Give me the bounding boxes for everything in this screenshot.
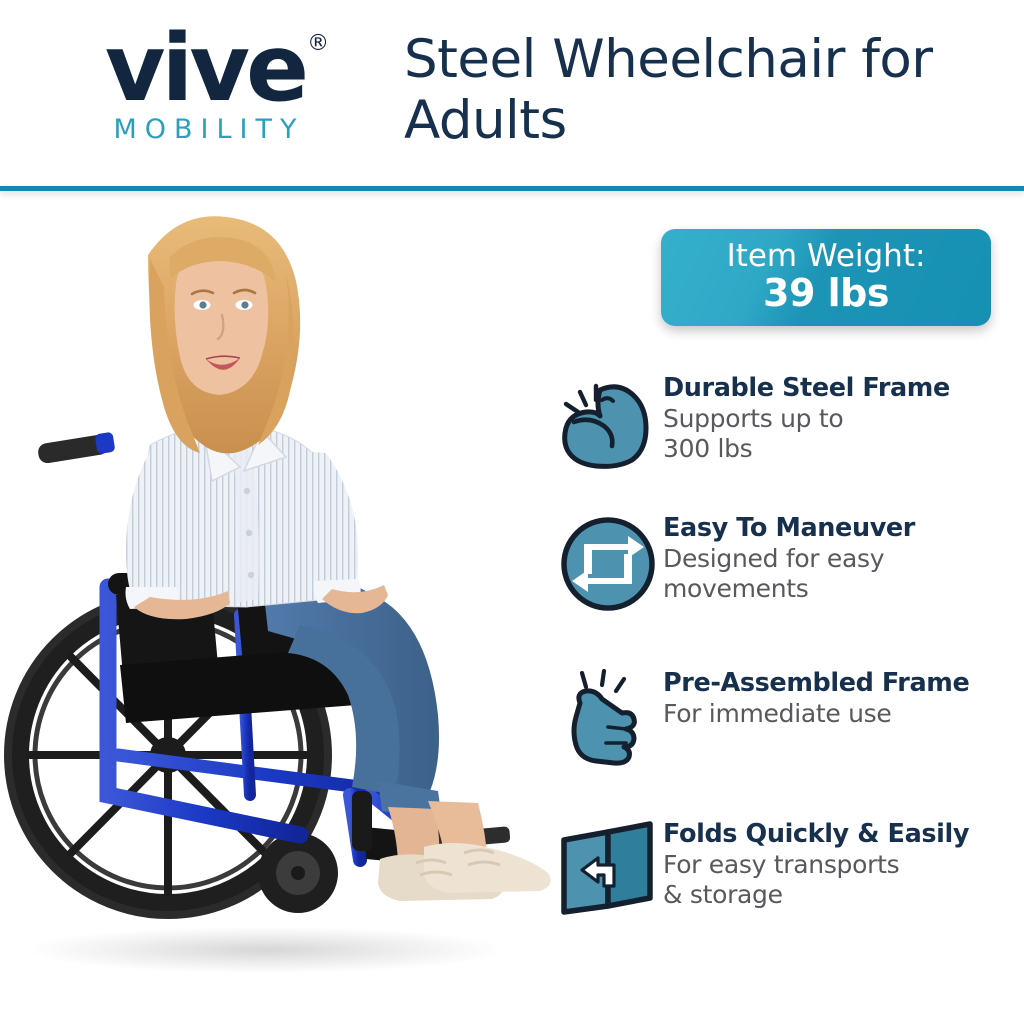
feature-text-block: Durable Steel Frame Supports up to 300 l… <box>663 372 1013 464</box>
logo-wordmark-text: vive <box>105 14 305 122</box>
feature-description: For immediate use <box>663 699 1013 729</box>
photo-ground-shadow <box>30 927 500 973</box>
feature-title: Easy To Maneuver <box>663 514 1013 543</box>
feature-item-folds-quickly-easily: Folds Quickly & Easily For easy transpor… <box>553 818 1013 918</box>
folding-panel-icon <box>556 820 660 918</box>
feature-icon-slot <box>553 818 663 918</box>
feature-title: Pre-Assembled Frame <box>663 669 1013 698</box>
flexed-bicep-icon <box>556 374 660 470</box>
brand-logo: vive® MOBILITY <box>55 26 355 145</box>
feature-text-block: Easy To Maneuver Designed for easy movem… <box>663 512 1013 604</box>
feature-icon-slot <box>553 667 663 769</box>
feature-title: Folds Quickly & Easily <box>663 820 1013 849</box>
page-title: Steel Wheelchair for Adults <box>404 30 1004 152</box>
registered-trademark-icon: ® <box>307 34 329 54</box>
feature-title: Durable Steel Frame <box>663 374 1013 403</box>
product-photo <box>0 195 560 995</box>
feature-description: For easy transports & storage <box>663 850 1013 910</box>
feature-item-durable-steel-frame: Durable Steel Frame Supports up to 300 l… <box>553 372 1013 470</box>
loop-arrows-circle-icon <box>558 514 658 614</box>
push-handle <box>37 432 116 465</box>
feature-icon-slot <box>553 512 663 614</box>
header-divider <box>0 186 1024 191</box>
feature-icon-slot <box>553 372 663 470</box>
wheelchair-user-illustration <box>0 195 560 995</box>
front-caster-wheel <box>258 833 338 913</box>
header: vive® MOBILITY Steel Wheelchair for Adul… <box>0 0 1024 188</box>
item-weight-badge: Item Weight: 39 lbs <box>661 229 991 326</box>
feature-description: Supports up to 300 lbs <box>663 404 1013 464</box>
infographic-page: vive® MOBILITY Steel Wheelchair for Adul… <box>0 0 1024 1024</box>
feature-item-pre-assembled-frame: Pre-Assembled Frame For immediate use <box>553 667 1013 769</box>
feature-item-easy-to-maneuver: Easy To Maneuver Designed for easy movem… <box>553 512 1013 614</box>
feature-text-block: Pre-Assembled Frame For immediate use <box>663 667 1013 729</box>
badge-value: 39 lbs <box>763 273 889 315</box>
badge-label: Item Weight: <box>727 240 926 273</box>
logo-wordmark: vive® <box>105 26 305 112</box>
feature-description: Designed for easy movements <box>663 544 1013 604</box>
person-head <box>148 216 300 453</box>
snapping-fingers-icon <box>560 669 656 769</box>
feature-text-block: Folds Quickly & Easily For easy transpor… <box>663 818 1013 910</box>
